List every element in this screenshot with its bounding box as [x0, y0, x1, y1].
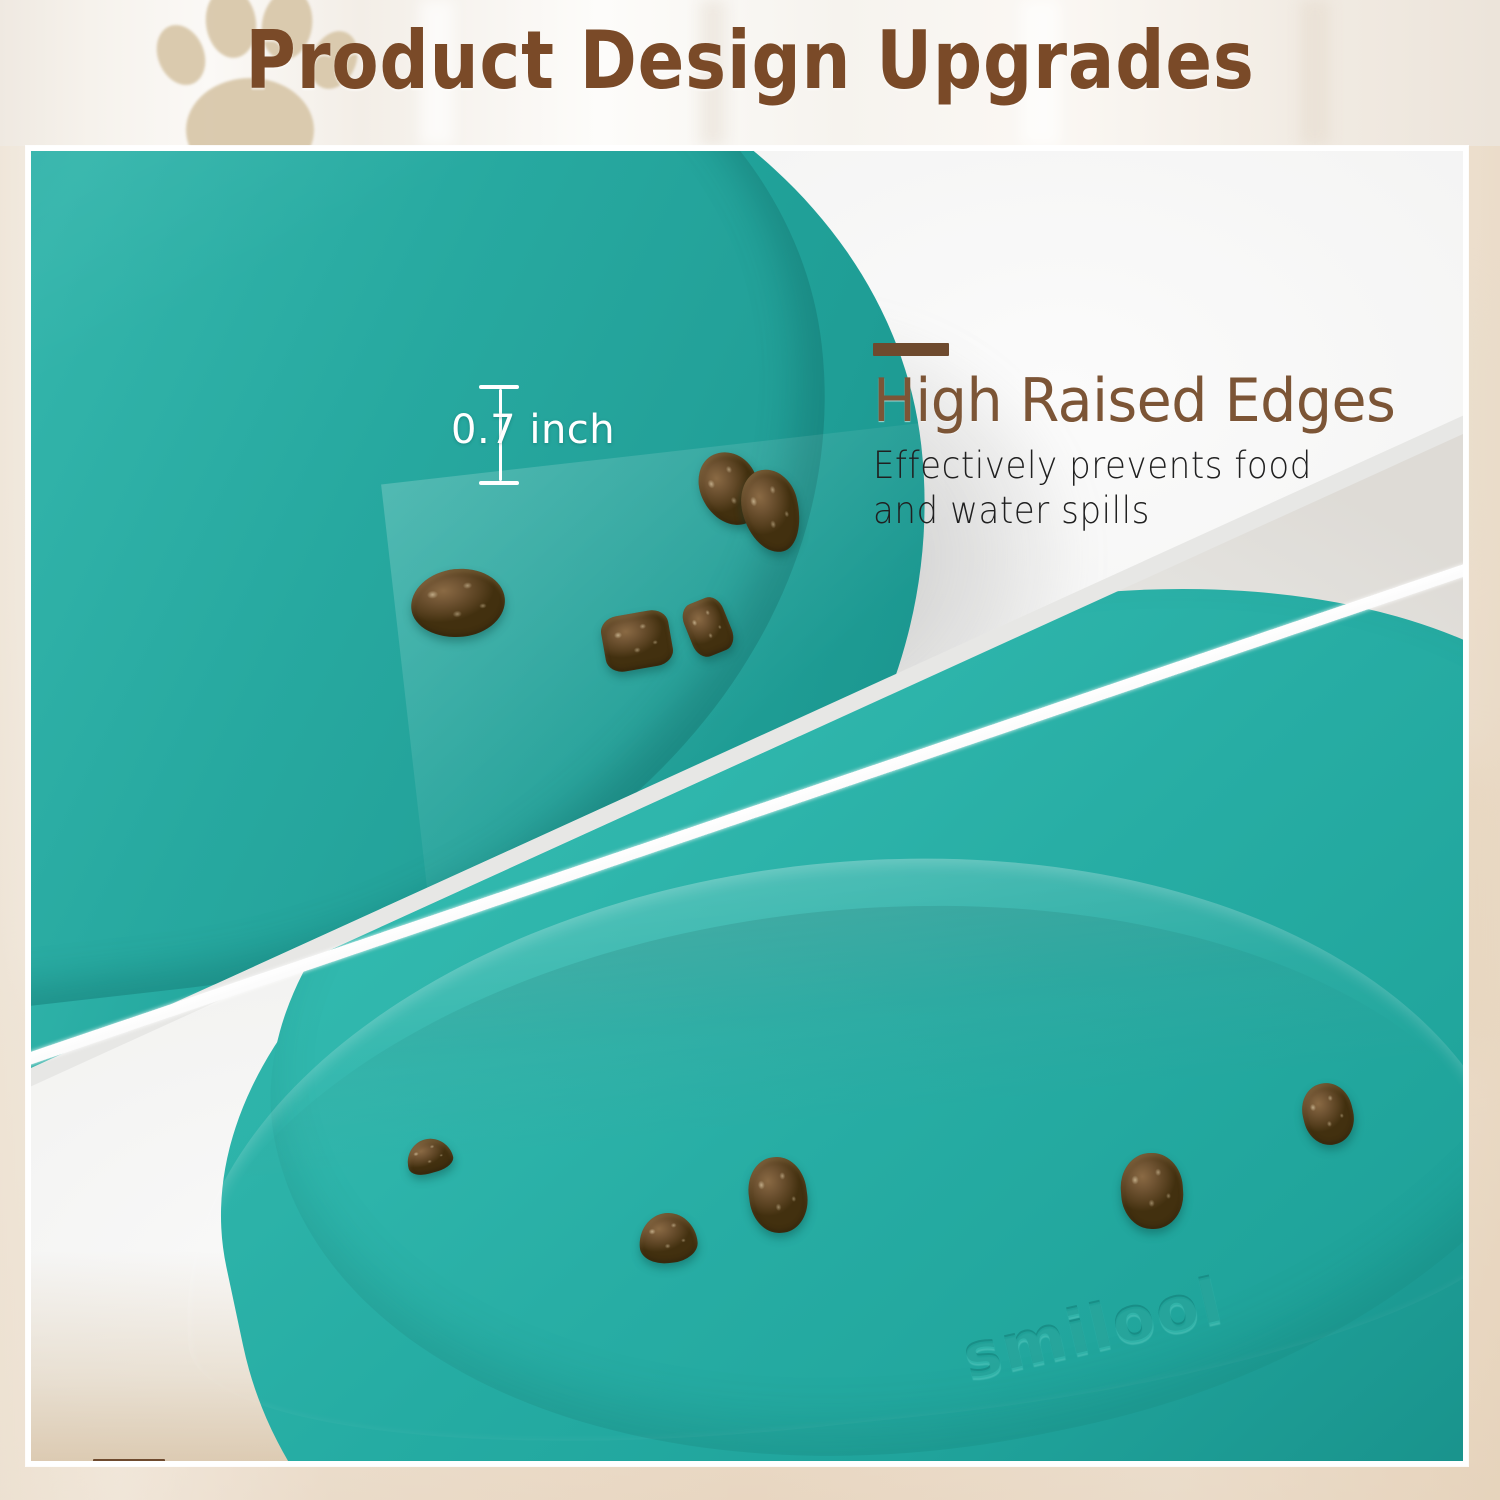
- header-banner: Product Design Upgrades: [0, 0, 1500, 146]
- accent-bar: [93, 1459, 165, 1461]
- feature-body-line-2: and water spills: [873, 488, 1443, 533]
- feature-body-line-1: Effectively prevents food: [873, 443, 1443, 488]
- photo-panel-frame: 0.7 inch smilool: [26, 146, 1468, 1466]
- feature-block-high-raised-edges: High Raised Edges Effectively prevents f…: [873, 343, 1463, 533]
- page-title: Product Design Upgrades: [105, 14, 1395, 107]
- photo-panel: 0.7 inch smilool: [31, 151, 1463, 1461]
- dimension-cap-bottom: [479, 481, 519, 485]
- accent-bar: [873, 343, 949, 356]
- feature-block-keeping-floor-clean: Keeping the floor clean Minimizes time s…: [93, 1459, 1273, 1461]
- infographic-canvas: Product Design Upgrades: [0, 0, 1500, 1500]
- feature-heading: High Raised Edges: [873, 370, 1462, 433]
- dimension-label: 0.7 inch: [451, 407, 615, 453]
- feature-body: Effectively prevents food and water spil…: [873, 443, 1443, 533]
